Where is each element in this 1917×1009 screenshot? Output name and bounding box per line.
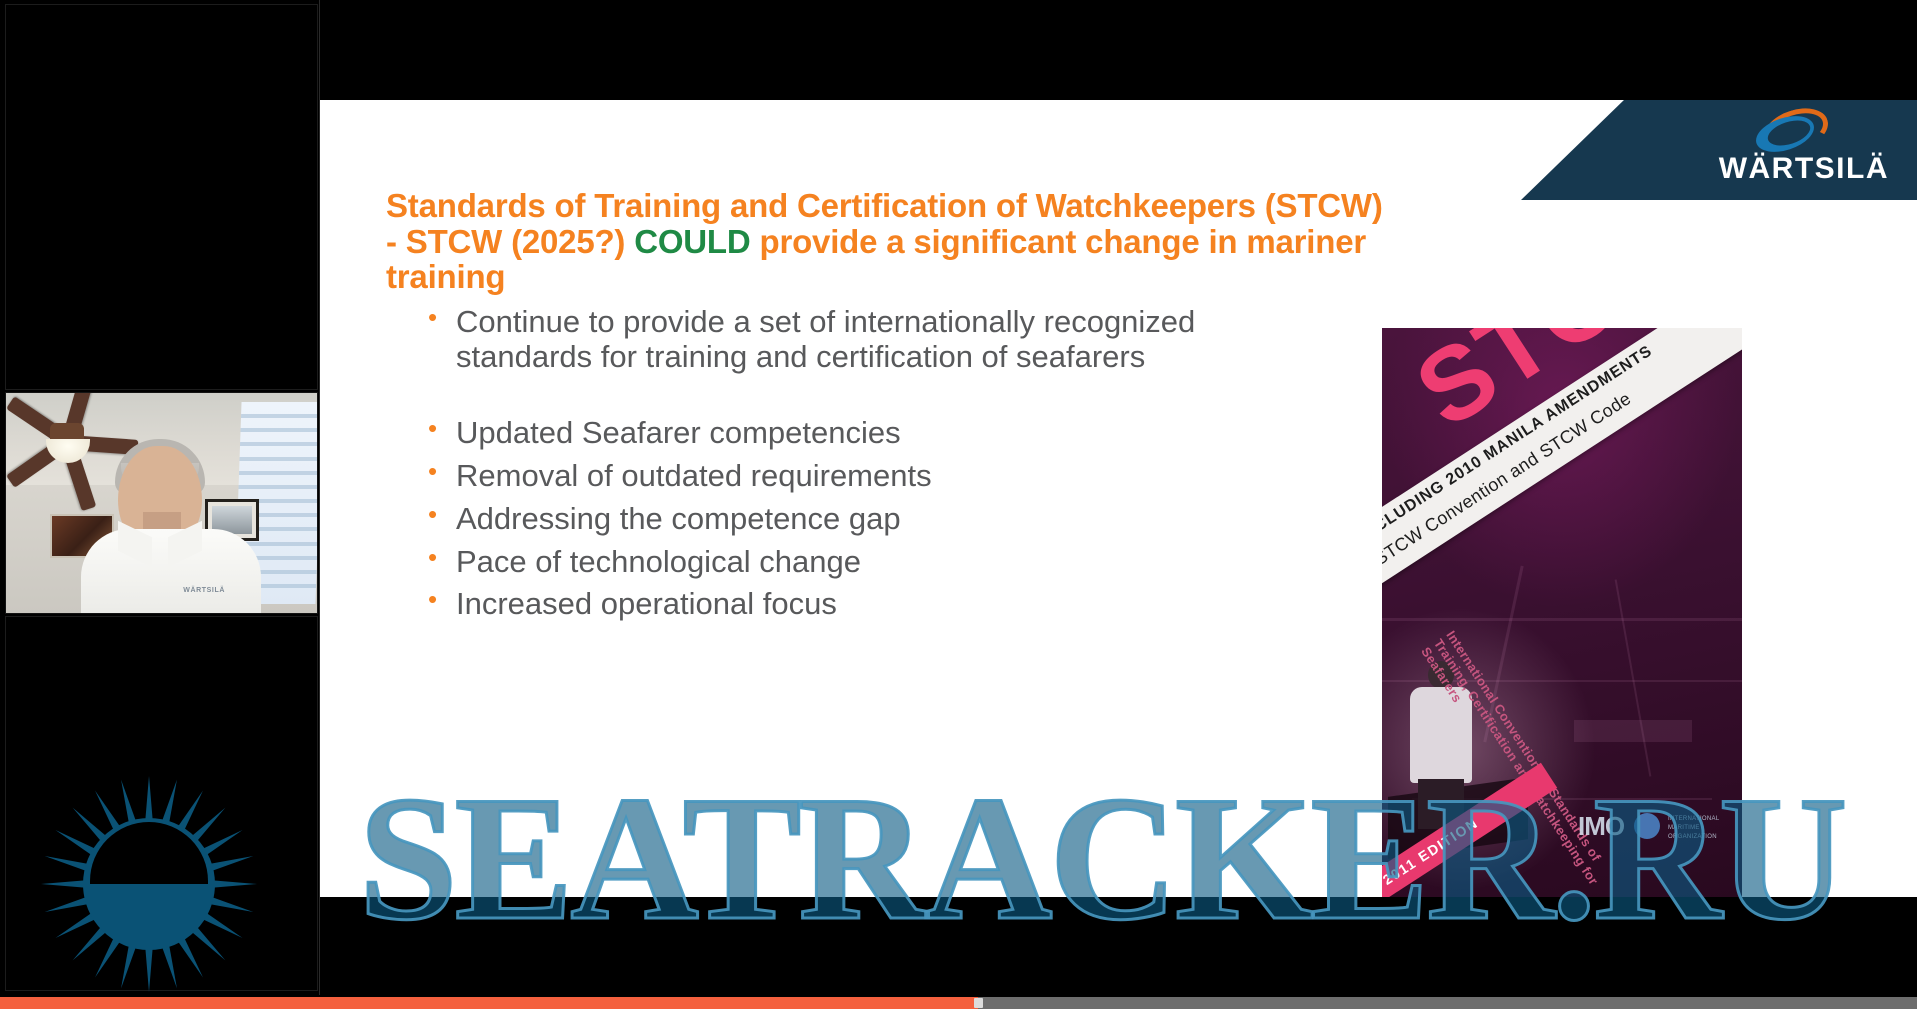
bullet-item: Addressing the competence gap — [420, 502, 1210, 537]
wartsila-brand-banner: WÄRTSILÄ — [1521, 100, 1917, 200]
slide-bullet-list: Continue to provide a set of internation… — [420, 305, 1210, 630]
participant-sidebar: WÄRTSILÄ — [0, 0, 320, 995]
video-progress-fill — [0, 997, 978, 1009]
sun-burst-logo — [34, 779, 264, 989]
slide-title-line3: training — [386, 258, 505, 295]
slide-title-highlight: COULD — [634, 223, 750, 260]
shirt-brand-logo: WÄRTSILÄ — [183, 587, 225, 594]
webcam-video-frame: WÄRTSILÄ — [6, 393, 317, 613]
bullet-item: Pace of technological change — [420, 545, 1210, 580]
slide-title: Standards of Training and Certification … — [386, 188, 1476, 295]
imo-subtitle: INTERNATIONAL MARITIME ORGANIZATION — [1668, 815, 1728, 842]
participant-tile-blank-top[interactable] — [5, 4, 318, 390]
presentation-slide[interactable]: WÄRTSILÄ Standards of Training and Certi… — [320, 100, 1917, 897]
slide-title-line2-post: provide a significant change in mariner — [751, 223, 1367, 260]
bullet-item: Updated Seafarer competencies — [420, 416, 1210, 451]
wartsila-wordmark: WÄRTSILÄ — [1719, 152, 1889, 186]
bullet-item: Increased operational focus — [420, 587, 1210, 622]
bullet-item: Continue to provide a set of internation… — [420, 305, 1210, 374]
screen-root: WÄRTSILÄ — [0, 0, 1917, 1009]
participant-tile-blank-bottom[interactable] — [5, 616, 318, 991]
video-progress-handle[interactable] — [974, 998, 983, 1008]
slide-title-line1: Standards of Training and Certification … — [386, 187, 1383, 224]
bullet-item: Removal of outdated requirements — [420, 459, 1210, 494]
imo-globe-icon — [1634, 813, 1660, 839]
stcw-book-cover-image: STCW INCLUDING 2010 MANILA AMENDMENTS ST… — [1382, 328, 1742, 897]
imo-logo: IMO INTERNATIONAL MARITIME ORGANIZATION — [1578, 809, 1728, 849]
imo-wordmark: IMO — [1578, 811, 1624, 842]
slide-title-line2-pre: - STCW (2025?) — [386, 223, 634, 260]
webcam-thumbnail[interactable]: WÄRTSILÄ — [5, 392, 318, 614]
wartsila-swoosh-icon — [1753, 108, 1839, 154]
video-progress-bar[interactable] — [0, 997, 1917, 1009]
